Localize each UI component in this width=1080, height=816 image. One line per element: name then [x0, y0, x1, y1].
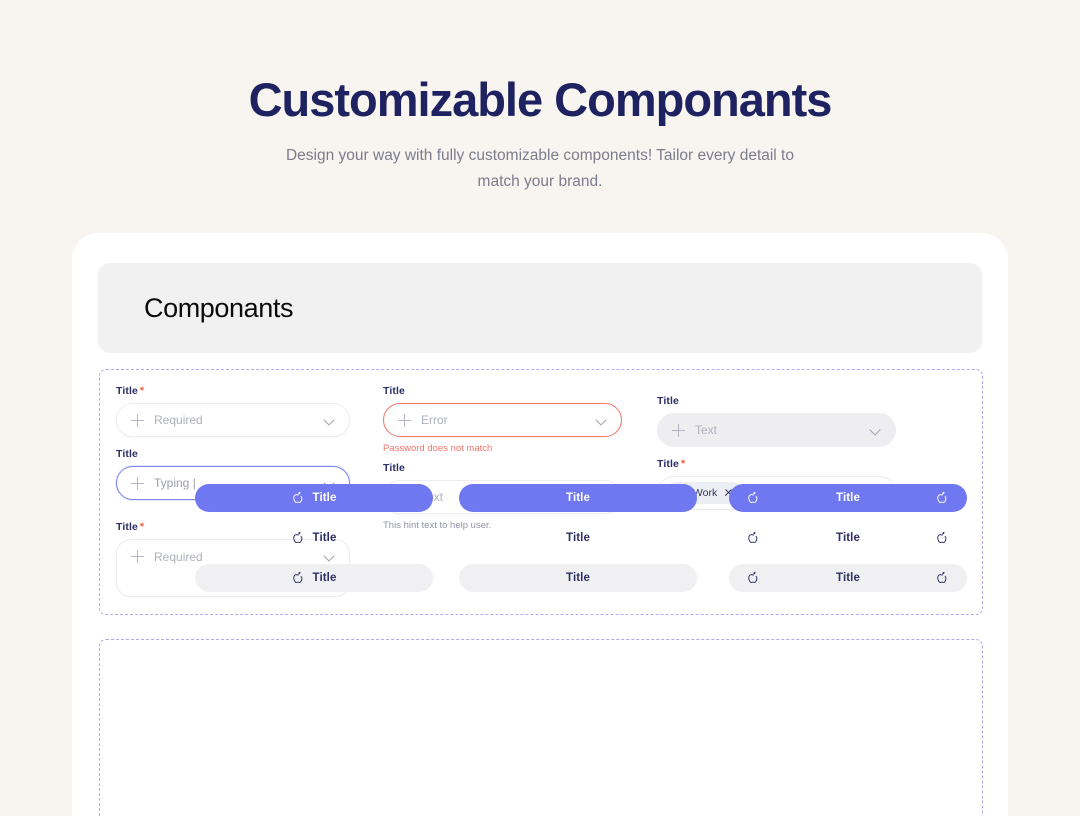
select-required-default[interactable]: Required	[116, 403, 350, 437]
required-asterisk: *	[140, 385, 144, 397]
apple-icon	[936, 571, 949, 585]
plus-icon	[672, 424, 685, 437]
field-value: Required	[154, 550, 316, 564]
chevron-down-icon	[870, 425, 881, 436]
apple-icon	[936, 531, 949, 545]
plus-icon	[131, 550, 144, 563]
field-label: Title*	[657, 458, 896, 470]
button-label: Title	[760, 532, 936, 544]
chevron-down-icon[interactable]	[324, 551, 335, 562]
page-subtitle: Design your way with fully customizable …	[270, 143, 810, 193]
apple-icon	[292, 531, 305, 545]
panel-header: Componants	[98, 263, 982, 353]
apple-icon	[292, 491, 305, 505]
plus-icon	[398, 414, 411, 427]
field-group-required-select: Title* Required	[116, 385, 350, 437]
button-soft-icon-left[interactable]: Title	[195, 564, 433, 592]
plus-icon	[131, 477, 144, 490]
buttons-section	[99, 639, 983, 816]
error-message: Password does not match	[383, 443, 622, 454]
button-label: Title	[477, 492, 679, 504]
button-label: Title	[477, 572, 679, 584]
apple-icon	[747, 571, 760, 585]
field-value: Error	[421, 413, 588, 427]
apple-icon	[292, 571, 305, 585]
field-label: Title	[657, 395, 896, 407]
button-solid-icon-left[interactable]: Title	[195, 484, 433, 512]
button-ghost-text[interactable]: Title	[459, 524, 697, 552]
field-value: Text	[695, 423, 862, 437]
field-label: Title	[383, 385, 622, 397]
field-label: Title	[383, 462, 622, 474]
chevron-down-icon[interactable]	[324, 415, 335, 426]
field-group-error: Title Error Password does not match	[383, 385, 622, 454]
button-label: Title	[313, 492, 337, 504]
required-asterisk: *	[140, 521, 144, 533]
button-soft-icon-both[interactable]: Title	[729, 564, 967, 592]
button-label: Title	[313, 572, 337, 584]
apple-icon	[936, 491, 949, 505]
required-asterisk: *	[681, 458, 685, 470]
field-value: Required	[154, 413, 316, 427]
button-label: Title	[760, 492, 936, 504]
plus-icon	[131, 414, 144, 427]
field-label: Title	[116, 448, 350, 460]
apple-icon	[747, 531, 760, 545]
chevron-down-icon[interactable]	[596, 415, 607, 426]
button-solid-icon-both[interactable]: Title	[729, 484, 967, 512]
button-soft-text[interactable]: Title	[459, 564, 697, 592]
button-label: Title	[760, 572, 936, 584]
hero-section: Customizable Componants Design your way …	[0, 0, 1080, 194]
showcase-card: Componants Title* Required Title Typing …	[72, 233, 1008, 816]
button-label: Title	[313, 532, 337, 544]
button-label: Title	[477, 532, 679, 544]
select-error[interactable]: Error	[383, 403, 622, 437]
button-ghost-icon-both[interactable]: Title	[729, 524, 967, 552]
apple-icon	[747, 491, 760, 505]
field-label: Title*	[116, 385, 350, 397]
page-title: Customizable Componants	[0, 72, 1080, 127]
field-group-disabled: Title Text	[657, 395, 896, 447]
page-root: Customizable Componants Design your way …	[0, 0, 1080, 816]
panel-title: Componants	[144, 293, 293, 324]
button-solid-text[interactable]: Title	[459, 484, 697, 512]
select-disabled: Text	[657, 413, 896, 447]
button-ghost-icon-left[interactable]: Title	[195, 524, 433, 552]
